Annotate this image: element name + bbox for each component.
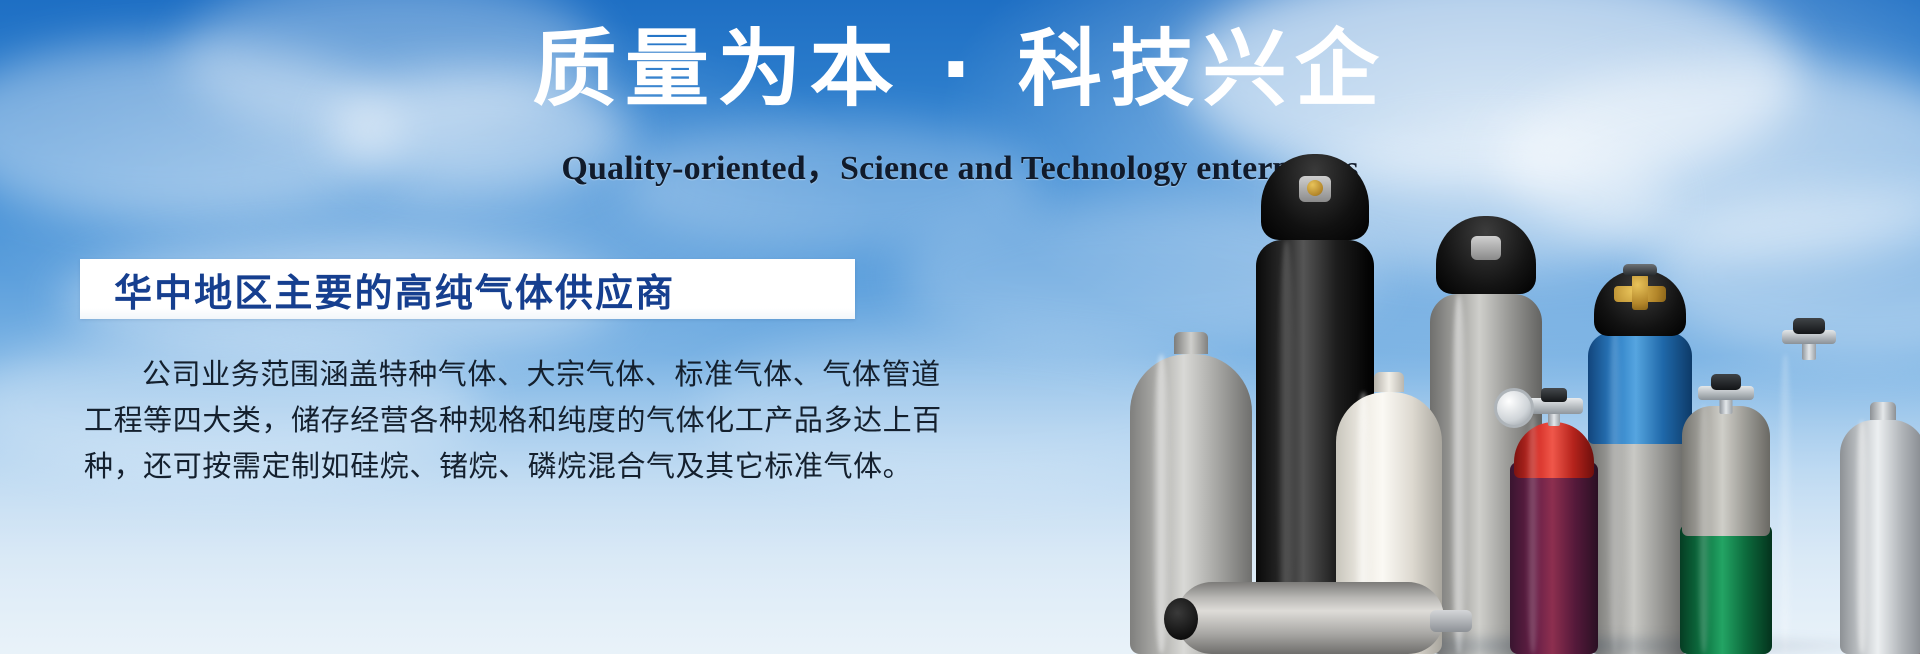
gas-cylinder-group-photo [1140,0,1920,654]
paragraph-line: 公司业务范围涵盖特种气体、大宗气体、标准气体、气体管道 [84,352,874,398]
tank-end-cap [1164,598,1198,640]
callout-box: 华中地区主要的高纯气体供应商 [80,259,855,319]
blue-grey-cylinder [1588,242,1692,654]
horizontal-grey-tank [1148,574,1478,654]
paragraph-line: 种，还可按需定制如硅烷、锗烷、磷烷混合气及其它标准气体。 [84,444,874,490]
banner-paragraph: 公司业务范围涵盖特种气体、大宗气体、标准气体、气体管道 工程等四大类，储存经营各… [84,352,874,489]
red-purple-cylinder [1510,386,1598,654]
silver-aluminium-cylinder [1840,382,1920,654]
pressure-gauge-icon [1494,388,1534,428]
paragraph-line: 工程等四大类，储存经营各种规格和纯度的气体化工产品多达上百 [84,398,874,444]
tank-valve [1430,610,1472,632]
promo-banner: 质量为本 · 科技兴企 Quality-oriented，Science and… [0,0,1920,654]
green-cylinder [1680,354,1772,654]
callout-text: 华中地区主要的高纯气体供应商 [114,262,675,317]
